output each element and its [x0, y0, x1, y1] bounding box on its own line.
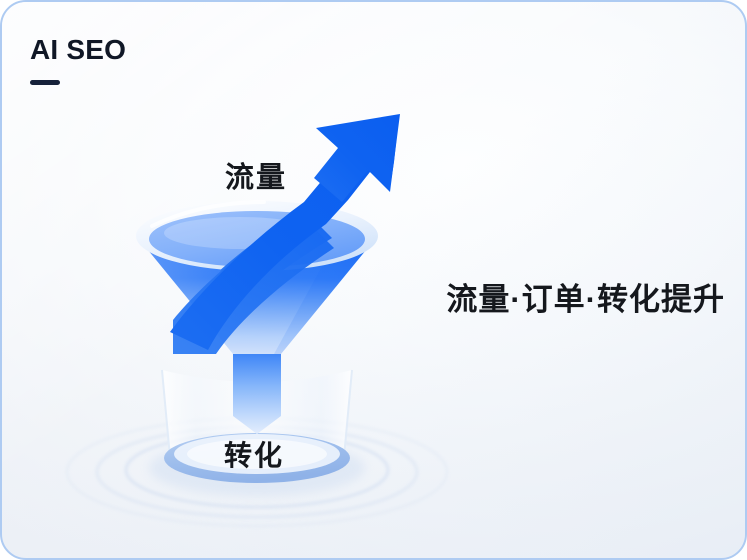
brand-title-block: AI SEO: [30, 36, 126, 85]
ai-seo-promo-card: AI SEO 流量·订单·转化提升: [0, 0, 747, 560]
funnel-illustration: [2, 2, 472, 560]
headline-text: 流量·订单·转化提升: [446, 274, 725, 319]
page-title: AI SEO: [30, 36, 126, 64]
funnel-label-traffic: 流量: [225, 154, 287, 196]
arrow-head: [314, 114, 400, 202]
title-underline-rule: [30, 80, 60, 85]
funnel-label-conversion: 转化: [224, 434, 284, 474]
